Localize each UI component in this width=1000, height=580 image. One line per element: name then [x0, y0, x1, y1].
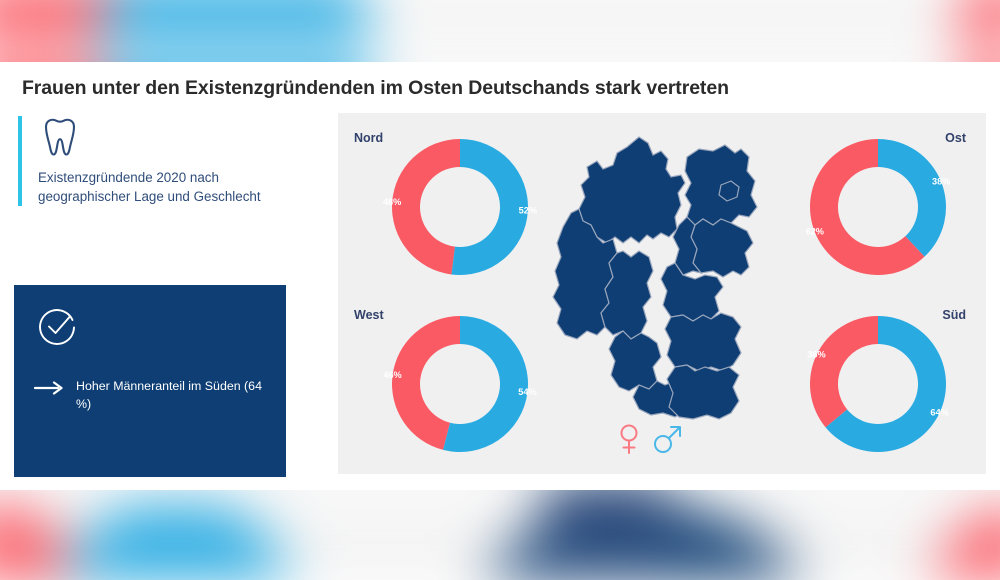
subtitle-text: Existenzgründende 2020 nach geographisch…	[38, 168, 288, 206]
ost-male-pct: 38%	[932, 176, 950, 186]
check-circle-icon	[36, 306, 78, 348]
west-male-pct: 54%	[518, 387, 536, 397]
sued-female-pct: 36%	[807, 349, 825, 359]
callout-row: Hoher Männeranteil im Süden (64 %)	[34, 378, 266, 414]
nord-donut-chart: 48% 52%	[380, 127, 540, 287]
venus-icon	[618, 423, 640, 455]
sued-donut-cell: Süd 36% 64%	[782, 298, 978, 474]
germany-map	[535, 125, 785, 425]
sued-male-pct: 64%	[930, 407, 948, 417]
west-donut-cell: West 46% 54%	[346, 298, 542, 474]
ost-donut-cell: Ost 62% 38%	[782, 121, 978, 297]
west-female-pct: 46%	[383, 370, 401, 380]
callout-text: Hoher Männeranteil im Süden (64 %)	[76, 378, 266, 414]
chart-panel: Nord 48% 52% Ost 62% 38% West 46% 54%	[338, 113, 986, 474]
west-donut-chart: 46% 54%	[380, 304, 540, 464]
arrow-right-icon	[34, 381, 64, 395]
mars-icon	[652, 423, 682, 455]
subtitle-block: Existenzgründende 2020 nach geographisch…	[18, 116, 288, 206]
gender-legend	[618, 423, 682, 455]
nord-donut-cell: Nord 48% 52%	[346, 121, 542, 297]
nord-female-pct: 48%	[383, 197, 401, 207]
background-blob-navy-logo	[542, 481, 669, 555]
callout-box: Hoher Männeranteil im Süden (64 %)	[14, 285, 286, 477]
nord-donut-label: Nord	[354, 131, 383, 145]
tooth-icon	[40, 116, 80, 158]
ost-donut-chart: 62% 38%	[798, 127, 958, 287]
page-title: Frauen unter den Existenzgründenden im O…	[22, 77, 729, 100]
ost-female-pct: 62%	[806, 226, 824, 236]
slide-card: Frauen unter den Existenzgründenden im O…	[0, 62, 1000, 490]
sued-donut-chart: 36% 64%	[798, 304, 958, 464]
